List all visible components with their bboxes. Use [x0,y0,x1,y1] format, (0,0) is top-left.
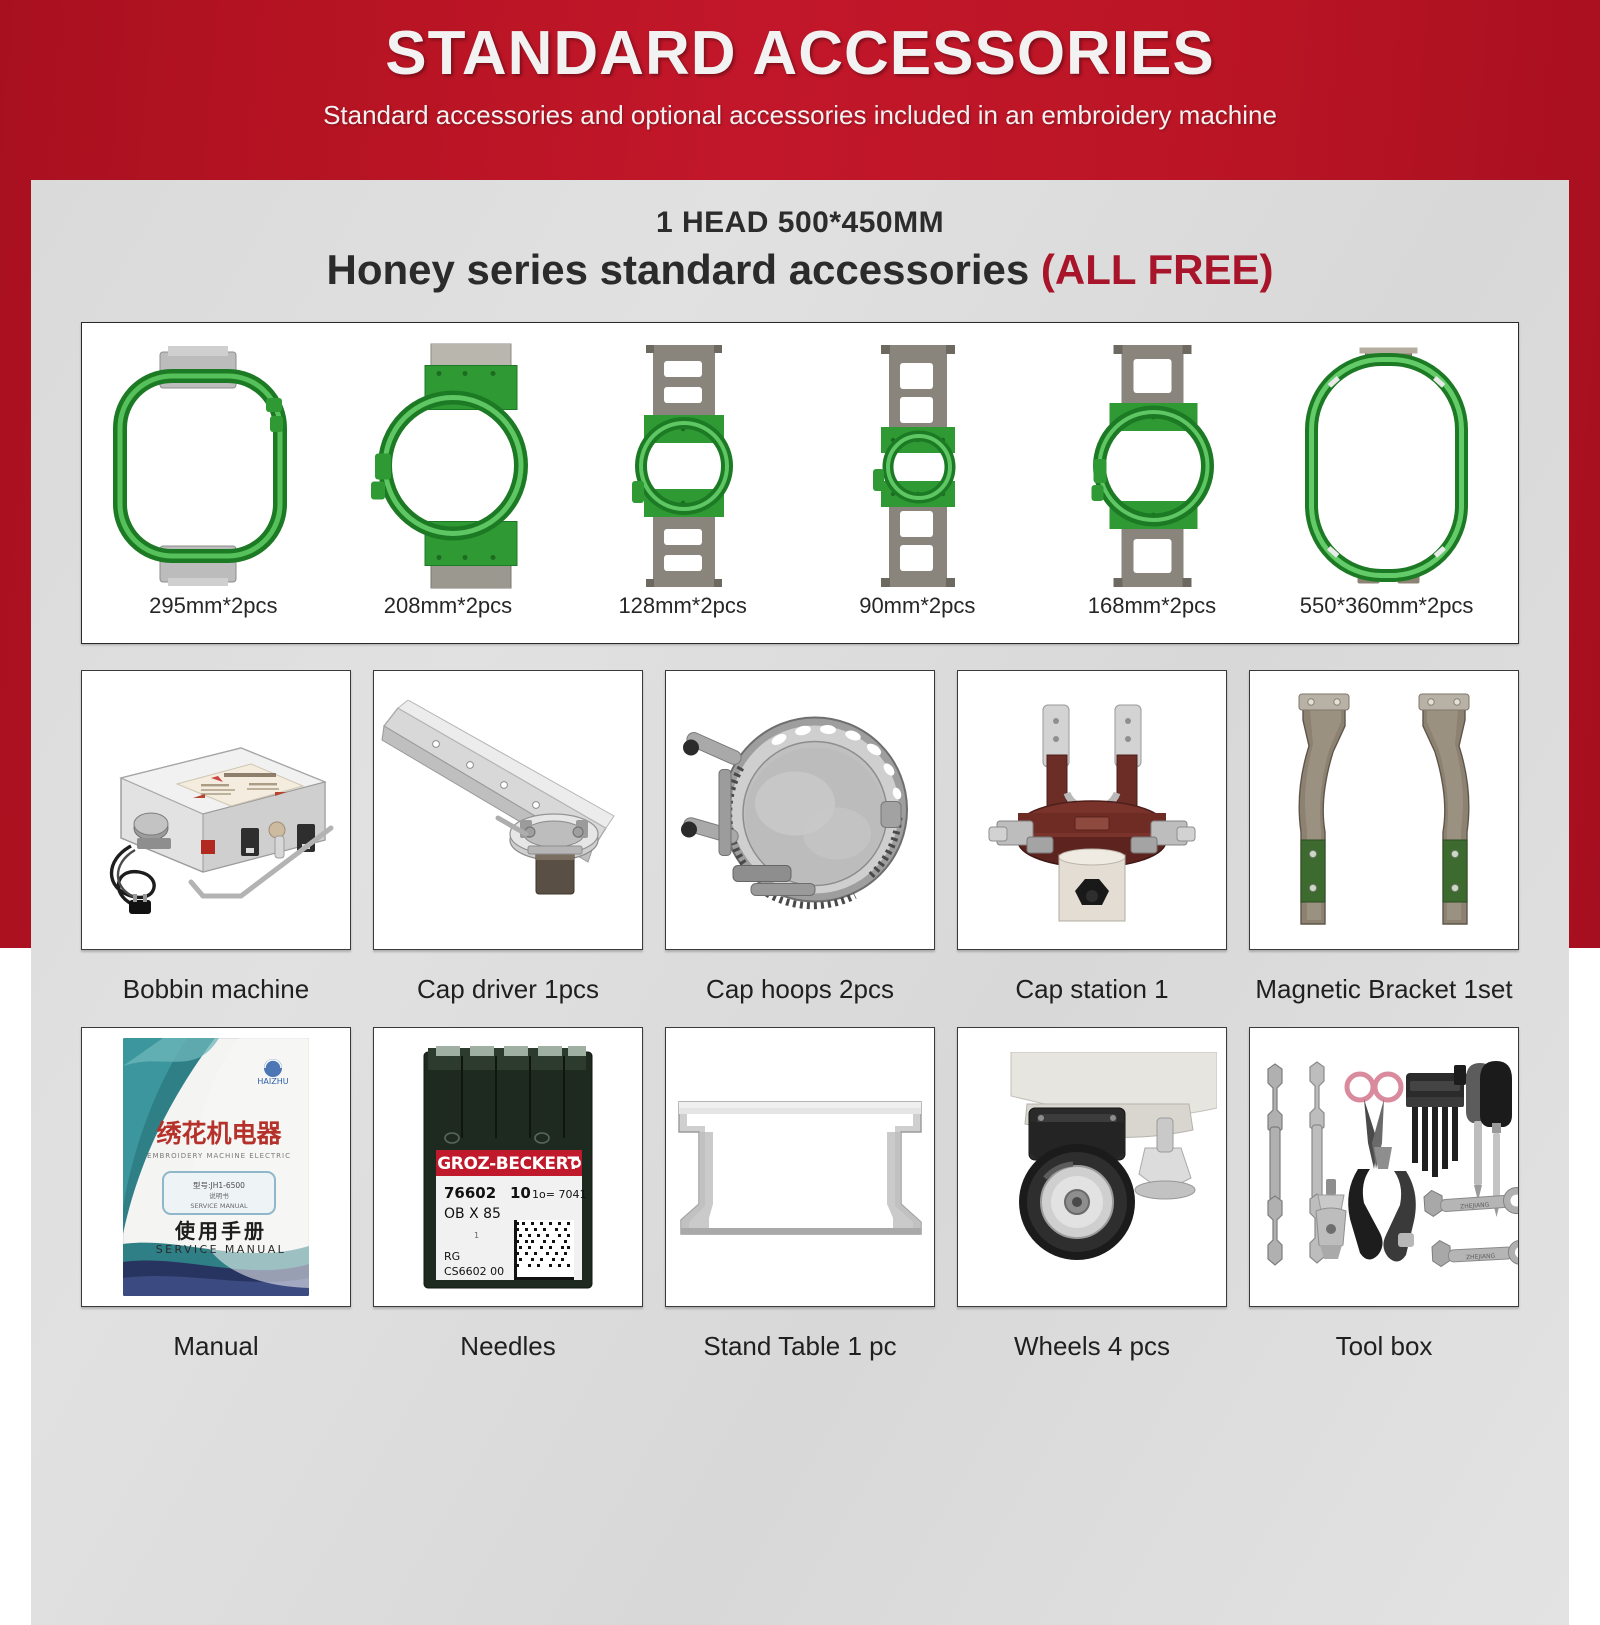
panel-title-highlight: (ALL FREE) [1041,246,1274,293]
svg-text:GROZ-BECKERT: GROZ-BECKERT [437,1154,579,1174]
hoop-item-128[interactable]: 128mm*2pcs [574,341,792,619]
hoop-label: 550*360mm*2pcs [1300,593,1474,619]
accessory-card-cap-driver[interactable]: Cap driver 1pcs [373,670,643,1027]
hoop-label: 168mm*2pcs [1088,593,1216,619]
hoop-round-wide-icon [339,341,557,591]
svg-text:76602: 76602 [444,1184,496,1202]
accessory-card-bobbin-machine[interactable]: Bobbin machine [81,670,351,1027]
page-title: STANDARD ACCESSORIES [0,18,1600,89]
svg-text:1o= 7041: 1o= 7041 [532,1188,586,1201]
svg-text:SERVICE MANUAL: SERVICE MANUAL [190,1202,248,1210]
accessory-label: Cap station 1 [957,950,1227,1027]
accessory-card-magnetic-bracket[interactable]: Magnetic Bracket 1set [1249,670,1519,1027]
accessory-label: Cap hoops 2pcs [665,950,935,1027]
bobbin-machine-icon [81,670,351,950]
hoop-round-med-icon [1043,341,1261,591]
accessory-label: Magnetic Bracket 1set [1249,950,1519,1027]
svg-text:1: 1 [474,1231,479,1240]
accessory-card-manual[interactable]: HAIZHU 绣花机电器 EMBROIDERY MACHINE ELECTRIC… [81,1027,351,1384]
svg-text:说明书: 说明书 [209,1191,229,1200]
cap-driver-icon [373,670,643,950]
hoop-item-90[interactable]: 90mm*2pcs [808,341,1026,619]
accessory-label: Needles [373,1307,643,1384]
hoop-square-icon [104,341,322,591]
panel-title: Honey series standard accessories (ALL F… [31,246,1569,294]
accessory-card-cap-hoops[interactable]: Cap hoops 2pcs [665,670,935,1027]
tool-box-icon: ZHEJIANG ZHEJIANG [1249,1027,1519,1307]
hoop-round-slot-icon [574,341,792,591]
hoop-item-295[interactable]: 295mm*2pcs [104,341,322,619]
panel-title-main: Honey series standard accessories [327,246,1030,293]
hoop-showcase: 295mm*2pcs [81,322,1519,644]
hoop-item-550x360[interactable]: 550*360mm*2pcs [1277,341,1495,619]
svg-text:型号:JH1-6500: 型号:JH1-6500 [193,1181,245,1190]
hoop-item-208[interactable]: 208mm*2pcs [339,341,557,619]
svg-text:10: 10 [510,1184,531,1202]
svg-text:EMBROIDERY MACHINE ELECTRIC: EMBROIDERY MACHINE ELECTRIC [147,1152,291,1160]
accessory-card-cap-station[interactable]: Cap station 1 [957,670,1227,1027]
accessory-label: Cap driver 1pcs [373,950,643,1027]
content-panel: 1 HEAD 500*450MM Honey series standard a… [31,180,1569,1625]
cap-hoop-icon [665,670,935,950]
page-subtitle: Standard accessories and optional access… [0,100,1600,131]
accessory-card-needles[interactable]: GROZ-BECKERT 76602 10 1o= 7041 OB X 85 1… [373,1027,643,1384]
spec-line: 1 HEAD 500*450MM [31,206,1569,240]
stand-table-icon [665,1027,935,1307]
accessory-label: Bobbin machine [81,950,351,1027]
hoop-label: 90mm*2pcs [859,593,975,619]
svg-text:使用手册: 使用手册 [174,1219,267,1243]
accessory-card-tool-box[interactable]: ZHEJIANG ZHEJIANG Tool box [1249,1027,1519,1384]
hoop-item-168[interactable]: 168mm*2pcs [1043,341,1261,619]
svg-text:SERVICE MANUAL: SERVICE MANUAL [156,1243,286,1256]
hoop-row: 295mm*2pcs [82,323,1518,643]
accessory-label: Tool box [1249,1307,1519,1384]
accessory-card-wheels[interactable]: Wheels 4 pcs [957,1027,1227,1384]
hoop-label: 295mm*2pcs [149,593,277,619]
page-root: STANDARD ACCESSORIES Standard accessorie… [0,0,1600,1625]
accessory-grid: Bobbin machine [81,670,1519,1384]
magnetic-bracket-icon [1249,670,1519,950]
needle-pack-icon: GROZ-BECKERT 76602 10 1o= 7041 OB X 85 1… [373,1027,643,1307]
accessory-label: Wheels 4 pcs [957,1307,1227,1384]
hoop-label: 208mm*2pcs [384,593,512,619]
hoop-oval-icon [1277,341,1495,591]
svg-text:RG: RG [444,1250,460,1263]
service-manual-icon: HAIZHU 绣花机电器 EMBROIDERY MACHINE ELECTRIC… [81,1027,351,1307]
svg-text:HAIZHU: HAIZHU [257,1077,288,1086]
hoop-label: 128mm*2pcs [618,593,746,619]
svg-text:OB X 85: OB X 85 [444,1206,501,1222]
svg-text:CS6602 00: CS6602 00 [444,1265,504,1278]
cap-station-icon [957,670,1227,950]
accessory-label: Manual [81,1307,351,1384]
svg-text:绣花机电器: 绣花机电器 [156,1119,282,1148]
caster-wheel-icon [957,1027,1227,1307]
accessory-label: Stand Table 1 pc [665,1307,935,1384]
accessory-card-stand-table[interactable]: Stand Table 1 pc [665,1027,935,1384]
hoop-round-small-icon [808,341,1026,591]
